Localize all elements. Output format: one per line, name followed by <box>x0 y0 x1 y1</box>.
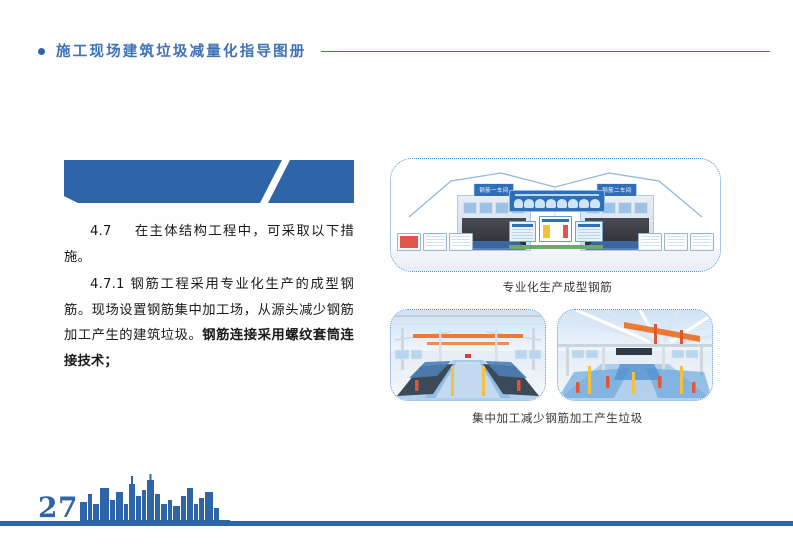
figure-row-bottom <box>390 309 725 401</box>
barrier <box>397 233 421 251</box>
city-skyline-icon <box>80 474 230 524</box>
workshop-interior-scene-left <box>391 310 545 400</box>
figure-bottom-left-frame <box>390 309 546 401</box>
bullet-dot-icon <box>38 48 45 55</box>
figure-bottom-right-frame <box>557 309 713 401</box>
safety-banner <box>509 190 605 212</box>
header-divider <box>321 51 771 53</box>
barrier <box>690 233 714 251</box>
safety-icon-row <box>514 199 600 208</box>
paragraph-4-7-1-number: 4.7.1 <box>90 277 125 292</box>
barrier <box>449 233 473 251</box>
paragraph-4-7: 4.7在主体结构工程中，可采取以下措施。 <box>64 219 354 270</box>
workshop-interior-scene-right <box>558 310 712 400</box>
page-number: 27 <box>38 491 78 524</box>
barrier <box>423 233 447 251</box>
notice-board-right <box>575 221 603 242</box>
figure-top-frame: 钢筋一车间 钢筋二车间 <box>390 158 721 272</box>
interior-structure-right-icon <box>558 310 712 400</box>
notice-board-left <box>509 221 537 242</box>
figure-group-caption: 集中加工减少钢筋加工产生垃圾 <box>390 410 725 426</box>
paragraph-4-7-1: 4.7.1 钢筋工程采用专业化生产的成型钢筋。现场设置钢筋集中加工场，从源头减少… <box>64 272 354 374</box>
body-text: 4.7在主体结构工程中，可采取以下措施。 4.7.1 钢筋工程采用专业化生产的成… <box>64 219 354 374</box>
paragraph-4-7-number: 4.7 <box>90 224 112 239</box>
center-display-area <box>509 190 603 249</box>
interior-structure-left-icon <box>391 310 545 400</box>
figure-column: 钢筋一车间 钢筋二车间 <box>390 158 725 426</box>
barrier <box>638 233 662 251</box>
banner-slash-icon <box>260 160 312 203</box>
page-footer: 27 <box>0 500 793 558</box>
barrier-row-right <box>638 233 714 251</box>
page-header: 施工现场建筑垃圾减量化指导图册 <box>38 36 770 64</box>
text-column: 4.7在主体结构工程中，可采取以下措施。 4.7.1 钢筋工程采用专业化生产的成… <box>64 160 354 376</box>
barrier <box>664 233 688 251</box>
workshop-exterior-scene: 钢筋一车间 钢筋二车间 <box>391 159 720 271</box>
figure-top: 钢筋一车间 钢筋二车间 <box>390 158 725 295</box>
barrier-row-left <box>397 233 473 251</box>
section-banner-decoration <box>64 160 354 203</box>
header-title: 施工现场建筑垃圾减量化指导图册 <box>56 40 307 61</box>
notice-board-row <box>509 216 603 242</box>
document-page: 施工现场建筑垃圾减量化指导图册 4.7在主体结构工程中，可采取以下措施。 4.7… <box>0 0 793 558</box>
planter-strip <box>509 245 603 249</box>
notice-board-center <box>539 216 572 242</box>
figure-top-caption: 专业化生产成型钢筋 <box>390 279 725 295</box>
